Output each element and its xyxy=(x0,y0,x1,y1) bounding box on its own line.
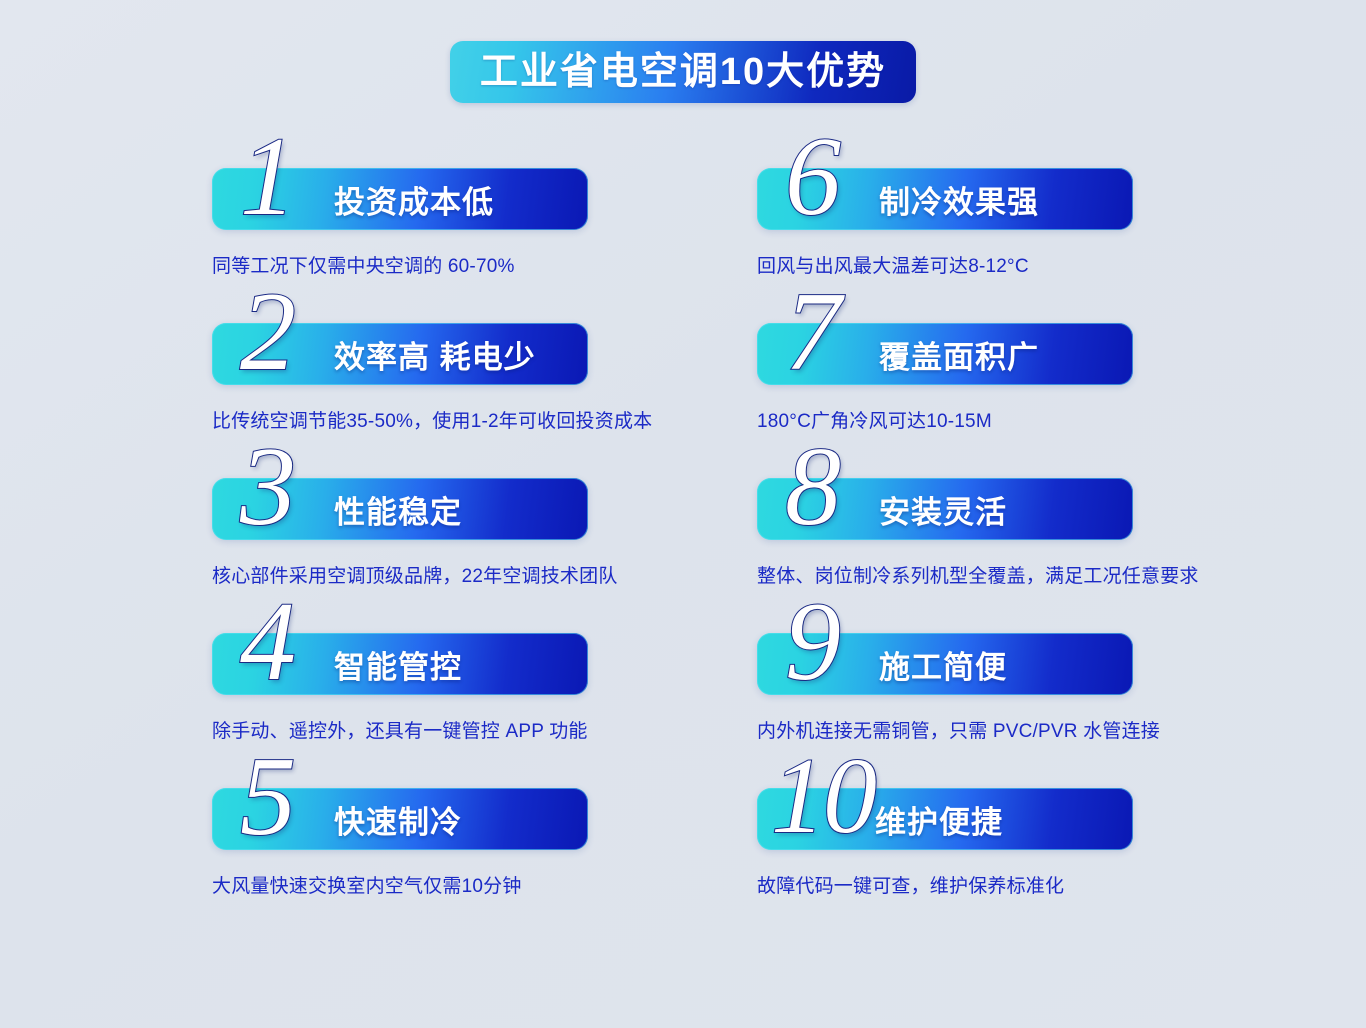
advantage-bar-4: 4 智能管控 xyxy=(212,633,588,695)
advantage-title-2: 效率高 耗电少 xyxy=(334,332,536,377)
advantage-item-6: 6 制冷效果强 回风与出风最大温差可达8-12°C xyxy=(757,168,1366,323)
advantage-item-8: 8 安装灵活 整体、岗位制冷系列机型全覆盖，满足工况任意要求 xyxy=(757,478,1366,633)
advantage-bar-7: 7 覆盖面积广 xyxy=(757,323,1133,385)
advantage-title-9: 施工简便 xyxy=(879,642,1007,687)
advantage-column-left: 1 投资成本低 同等工况下仅需中央空调的 60-70% 2 效率高 耗电少 比传… xyxy=(0,168,683,943)
advantage-caption-4: 除手动、遥控外，还具有一键管控 APP 功能 xyxy=(212,716,683,743)
advantage-column-right: 6 制冷效果强 回风与出风最大温差可达8-12°C 7 覆盖面积广 180°C广… xyxy=(683,168,1366,943)
title-banner: 工业省电空调10大优势 xyxy=(450,41,916,103)
title-banner-wrapper: 工业省电空调10大优势 xyxy=(0,41,1366,103)
advantage-item-3: 3 性能稳定 核心部件采用空调顶级品牌，22年空调技术团队 xyxy=(212,478,683,633)
advantage-title-3: 性能稳定 xyxy=(334,487,462,532)
advantage-caption-3: 核心部件采用空调顶级品牌，22年空调技术团队 xyxy=(212,561,683,588)
advantage-bar-1: 1 投资成本低 xyxy=(212,168,588,230)
advantage-item-5: 5 快速制冷 大风量快速交换室内空气仅需10分钟 xyxy=(212,788,683,943)
advantage-caption-7: 180°C广角冷风可达10-15M xyxy=(757,406,1366,433)
advantage-bar-8: 8 安装灵活 xyxy=(757,478,1133,540)
advantage-caption-1: 同等工况下仅需中央空调的 60-70% xyxy=(212,251,683,278)
advantage-title-1: 投资成本低 xyxy=(334,177,494,222)
advantage-bar-2: 2 效率高 耗电少 xyxy=(212,323,588,385)
advantage-item-9: 9 施工简便 内外机连接无需铜管，只需 PVC/PVR 水管连接 xyxy=(757,633,1366,788)
advantage-caption-6: 回风与出风最大温差可达8-12°C xyxy=(757,251,1366,278)
advantage-item-1: 1 投资成本低 同等工况下仅需中央空调的 60-70% xyxy=(212,168,683,323)
advantage-title-6: 制冷效果强 xyxy=(879,177,1039,222)
advantage-title-10: 维护便捷 xyxy=(875,797,1003,842)
advantage-caption-2: 比传统空调节能35-50%，使用1-2年可收回投资成本 xyxy=(212,406,683,433)
advantage-caption-5: 大风量快速交换室内空气仅需10分钟 xyxy=(212,871,683,898)
advantage-bar-6: 6 制冷效果强 xyxy=(757,168,1133,230)
advantage-title-4: 智能管控 xyxy=(334,642,462,687)
infographic-poster: 工业省电空调10大优势 1 投资成本低 同等工况下仅需中央空调的 60-70% … xyxy=(0,0,1366,1028)
page-title: 工业省电空调10大优势 xyxy=(480,53,886,91)
advantage-number-6: 6 xyxy=(785,118,839,236)
advantage-bar-3: 3 性能稳定 xyxy=(212,478,588,540)
advantage-title-8: 安装灵活 xyxy=(879,487,1007,532)
advantage-bar-9: 9 施工简便 xyxy=(757,633,1133,695)
advantage-columns: 1 投资成本低 同等工况下仅需中央空调的 60-70% 2 效率高 耗电少 比传… xyxy=(0,168,1366,943)
advantage-item-10: 10 维护便捷 故障代码一键可查，维护保养标准化 xyxy=(757,788,1366,943)
advantage-caption-8: 整体、岗位制冷系列机型全覆盖，满足工况任意要求 xyxy=(757,561,1366,588)
advantage-title-7: 覆盖面积广 xyxy=(879,332,1039,377)
advantage-caption-9: 内外机连接无需铜管，只需 PVC/PVR 水管连接 xyxy=(757,716,1366,743)
advantage-title-5: 快速制冷 xyxy=(334,797,462,842)
advantage-item-2: 2 效率高 耗电少 比传统空调节能35-50%，使用1-2年可收回投资成本 xyxy=(212,323,683,478)
advantage-item-7: 7 覆盖面积广 180°C广角冷风可达10-15M xyxy=(757,323,1366,478)
advantage-bar-5: 5 快速制冷 xyxy=(212,788,588,850)
advantage-number-1: 1 xyxy=(240,118,294,236)
advantage-bar-10: 10 维护便捷 xyxy=(757,788,1133,850)
advantage-caption-10: 故障代码一键可查，维护保养标准化 xyxy=(757,871,1366,898)
advantage-item-4: 4 智能管控 除手动、遥控外，还具有一键管控 APP 功能 xyxy=(212,633,683,788)
